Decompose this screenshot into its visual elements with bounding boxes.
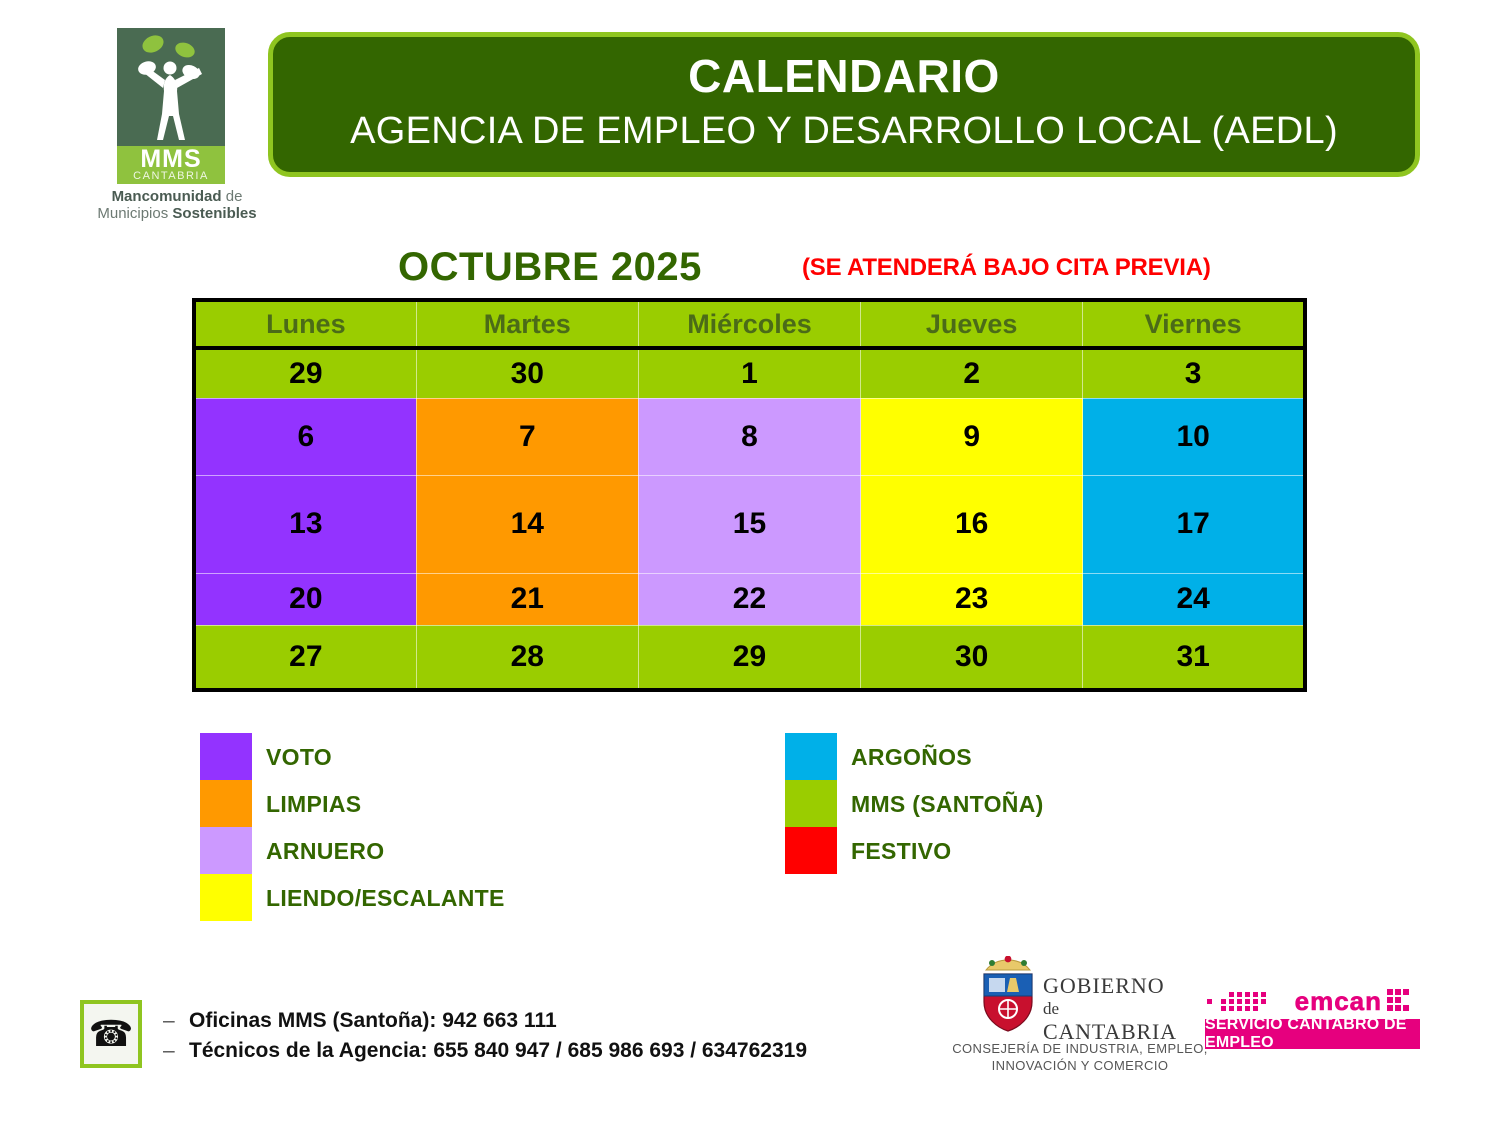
calendar-day-cell[interactable]: 29 <box>194 348 416 398</box>
page-header: MMS CANTABRIA Mancomunidad de Municipios… <box>0 0 1500 220</box>
calendar-day-cell[interactable]: 13 <box>194 475 416 573</box>
legend-label: LIENDO/ESCALANTE <box>266 885 505 912</box>
contact-info: –Oficinas MMS (Santoña): 942 663 111 –Té… <box>163 1006 807 1066</box>
month-row: OCTUBRE 2025 (SE ATENDERÁ BAJO CITA PREV… <box>0 245 1500 295</box>
calendar-day-cell[interactable]: 16 <box>861 475 1083 573</box>
calendar-day-cell[interactable]: 30 <box>861 625 1083 690</box>
contact-number[interactable]: 942 663 111 <box>442 1009 556 1032</box>
mms-caption-line1-rest: de <box>222 188 243 205</box>
telephone-icon: ☎ <box>80 1000 142 1068</box>
calendar-day-cell[interactable]: 15 <box>638 475 860 573</box>
calendar-day-cell[interactable]: 14 <box>416 475 638 573</box>
calendar-table: LunesMartesMiércolesJuevesViernes 293012… <box>192 298 1307 692</box>
calendar-header-row: LunesMartesMiércolesJuevesViernes <box>194 300 1305 348</box>
month-title: OCTUBRE 2025 <box>398 245 702 290</box>
calendar-day-cell[interactable]: 1 <box>638 348 860 398</box>
calendar-day-cell[interactable]: 10 <box>1083 398 1305 475</box>
gobierno-de-cantabria-logo: GOBIERNO de CANTABRIA CONSEJERÍA DE INDU… <box>935 948 1225 1070</box>
gobierno-department-line2: INNOVACIÓN Y COMERCIO <box>920 1057 1240 1074</box>
cantabria-coat-of-arms-icon <box>980 956 1036 1032</box>
mms-caption-line1-bold: Mancomunidad <box>112 188 222 205</box>
calendar-day-cell[interactable]: 22 <box>638 573 860 625</box>
emcan-wordmark: emcan <box>1295 986 1382 1017</box>
mms-wordmark: MMS CANTABRIA <box>117 146 225 184</box>
calendar-day-cell[interactable]: 21 <box>416 573 638 625</box>
emcan-logo: emcan SERVICIO CÁNTABRO DE EMPLEO <box>1205 985 1420 1051</box>
contact-line: –Técnicos de la Agencia: 655 840 947 / 6… <box>163 1036 807 1066</box>
legend-label: VOTO <box>266 744 332 771</box>
emcan-tagline: SERVICIO CÁNTABRO DE EMPLEO <box>1205 1019 1420 1049</box>
calendar-day-cell[interactable]: 31 <box>1083 625 1305 690</box>
calendar-day-cell[interactable]: 23 <box>861 573 1083 625</box>
calendar-day-cell[interactable]: 24 <box>1083 573 1305 625</box>
mms-cantabria-logo: MMS CANTABRIA Mancomunidad de Municipios… <box>95 28 255 210</box>
calendar-day-cell[interactable]: 28 <box>416 625 638 690</box>
appointment-note: (SE ATENDERÁ BAJO CITA PREVIA) <box>802 254 1211 282</box>
legend-color-swatch <box>200 827 252 874</box>
legend-label: ARGOÑOS <box>851 744 972 771</box>
gobierno-department: CONSEJERÍA DE INDUSTRIA, EMPLEO, INNOVAC… <box>920 1040 1240 1074</box>
calendar-day-cell[interactable]: 27 <box>194 625 416 690</box>
calendar-day-cell[interactable]: 30 <box>416 348 638 398</box>
legend-color-swatch <box>785 780 837 827</box>
calendar-week-row: 2728293031 <box>194 625 1305 690</box>
weekday-header-viernes: Viernes <box>1083 300 1305 348</box>
legend: VOTOLIMPIASARNUEROLIENDO/ESCALANTE ARGOÑ… <box>0 733 1500 923</box>
contact-dash: – <box>163 1006 189 1036</box>
calendar-week-row: 2021222324 <box>194 573 1305 625</box>
calendar-day-cell[interactable]: 29 <box>638 625 860 690</box>
gobierno-wordmark: GOBIERNO de CANTABRIA <box>1043 974 1177 1043</box>
page-title: CALENDARIO <box>273 47 1415 105</box>
calendar-day-cell[interactable]: 8 <box>638 398 860 475</box>
contact-label: Técnicos de la Agencia: <box>189 1039 433 1062</box>
mms-emblem-icon <box>117 28 225 146</box>
calendar-week-row: 1314151617 <box>194 475 1305 573</box>
legend-label: MMS (SANTOÑA) <box>851 791 1044 818</box>
weekday-header-jueves: Jueves <box>861 300 1083 348</box>
contact-number[interactable]: 655 840 947 / 685 986 693 / 634762319 <box>433 1039 807 1062</box>
legend-label: LIMPIAS <box>266 791 361 818</box>
legend-label: ARNUERO <box>266 838 384 865</box>
contact-line: –Oficinas MMS (Santoña): 942 663 111 <box>163 1006 807 1036</box>
contact-label: Oficinas MMS (Santoña): <box>189 1009 442 1032</box>
weekday-header-miércoles: Miércoles <box>638 300 860 348</box>
mms-caption-line2-rest: Municipios <box>97 205 172 222</box>
calendar-day-cell[interactable]: 3 <box>1083 348 1305 398</box>
mms-caption: Mancomunidad de Municipios Sostenibles <box>87 188 267 222</box>
weekday-header-lunes: Lunes <box>194 300 416 348</box>
legend-label: FESTIVO <box>851 838 952 865</box>
legend-color-swatch <box>200 780 252 827</box>
calendar-day-cell[interactable]: 2 <box>861 348 1083 398</box>
calendar-day-cell[interactable]: 17 <box>1083 475 1305 573</box>
contact-dash: – <box>163 1036 189 1066</box>
telephone-glyph: ☎ <box>89 1016 134 1052</box>
mms-region: CANTABRIA <box>117 171 225 182</box>
legend-color-swatch <box>785 827 837 874</box>
juggler-figure-icon <box>117 28 225 146</box>
calendar-day-cell[interactable]: 7 <box>416 398 638 475</box>
legend-color-swatch <box>200 874 252 921</box>
calendar-week-row: 2930123 <box>194 348 1305 398</box>
mms-caption-line2-bold: Sostenibles <box>172 205 256 222</box>
title-banner: CALENDARIO AGENCIA DE EMPLEO Y DESARROLL… <box>268 32 1420 177</box>
calendar-day-cell[interactable]: 20 <box>194 573 416 625</box>
page-subtitle: AGENCIA DE EMPLEO Y DESARROLLO LOCAL (AE… <box>273 105 1415 157</box>
gobierno-line2: de <box>1043 997 1177 1020</box>
calendar-body: 2930123678910131415161720212223242728293… <box>194 348 1305 690</box>
mms-initials: MMS <box>117 146 225 171</box>
weekday-header-martes: Martes <box>416 300 638 348</box>
calendar-day-cell[interactable]: 9 <box>861 398 1083 475</box>
calendar-week-row: 678910 <box>194 398 1305 475</box>
legend-color-swatch <box>200 733 252 780</box>
calendar-day-cell[interactable]: 6 <box>194 398 416 475</box>
gobierno-department-line1: CONSEJERÍA DE INDUSTRIA, EMPLEO, <box>920 1040 1240 1057</box>
gobierno-line1: GOBIERNO <box>1043 974 1177 997</box>
legend-color-swatch <box>785 733 837 780</box>
